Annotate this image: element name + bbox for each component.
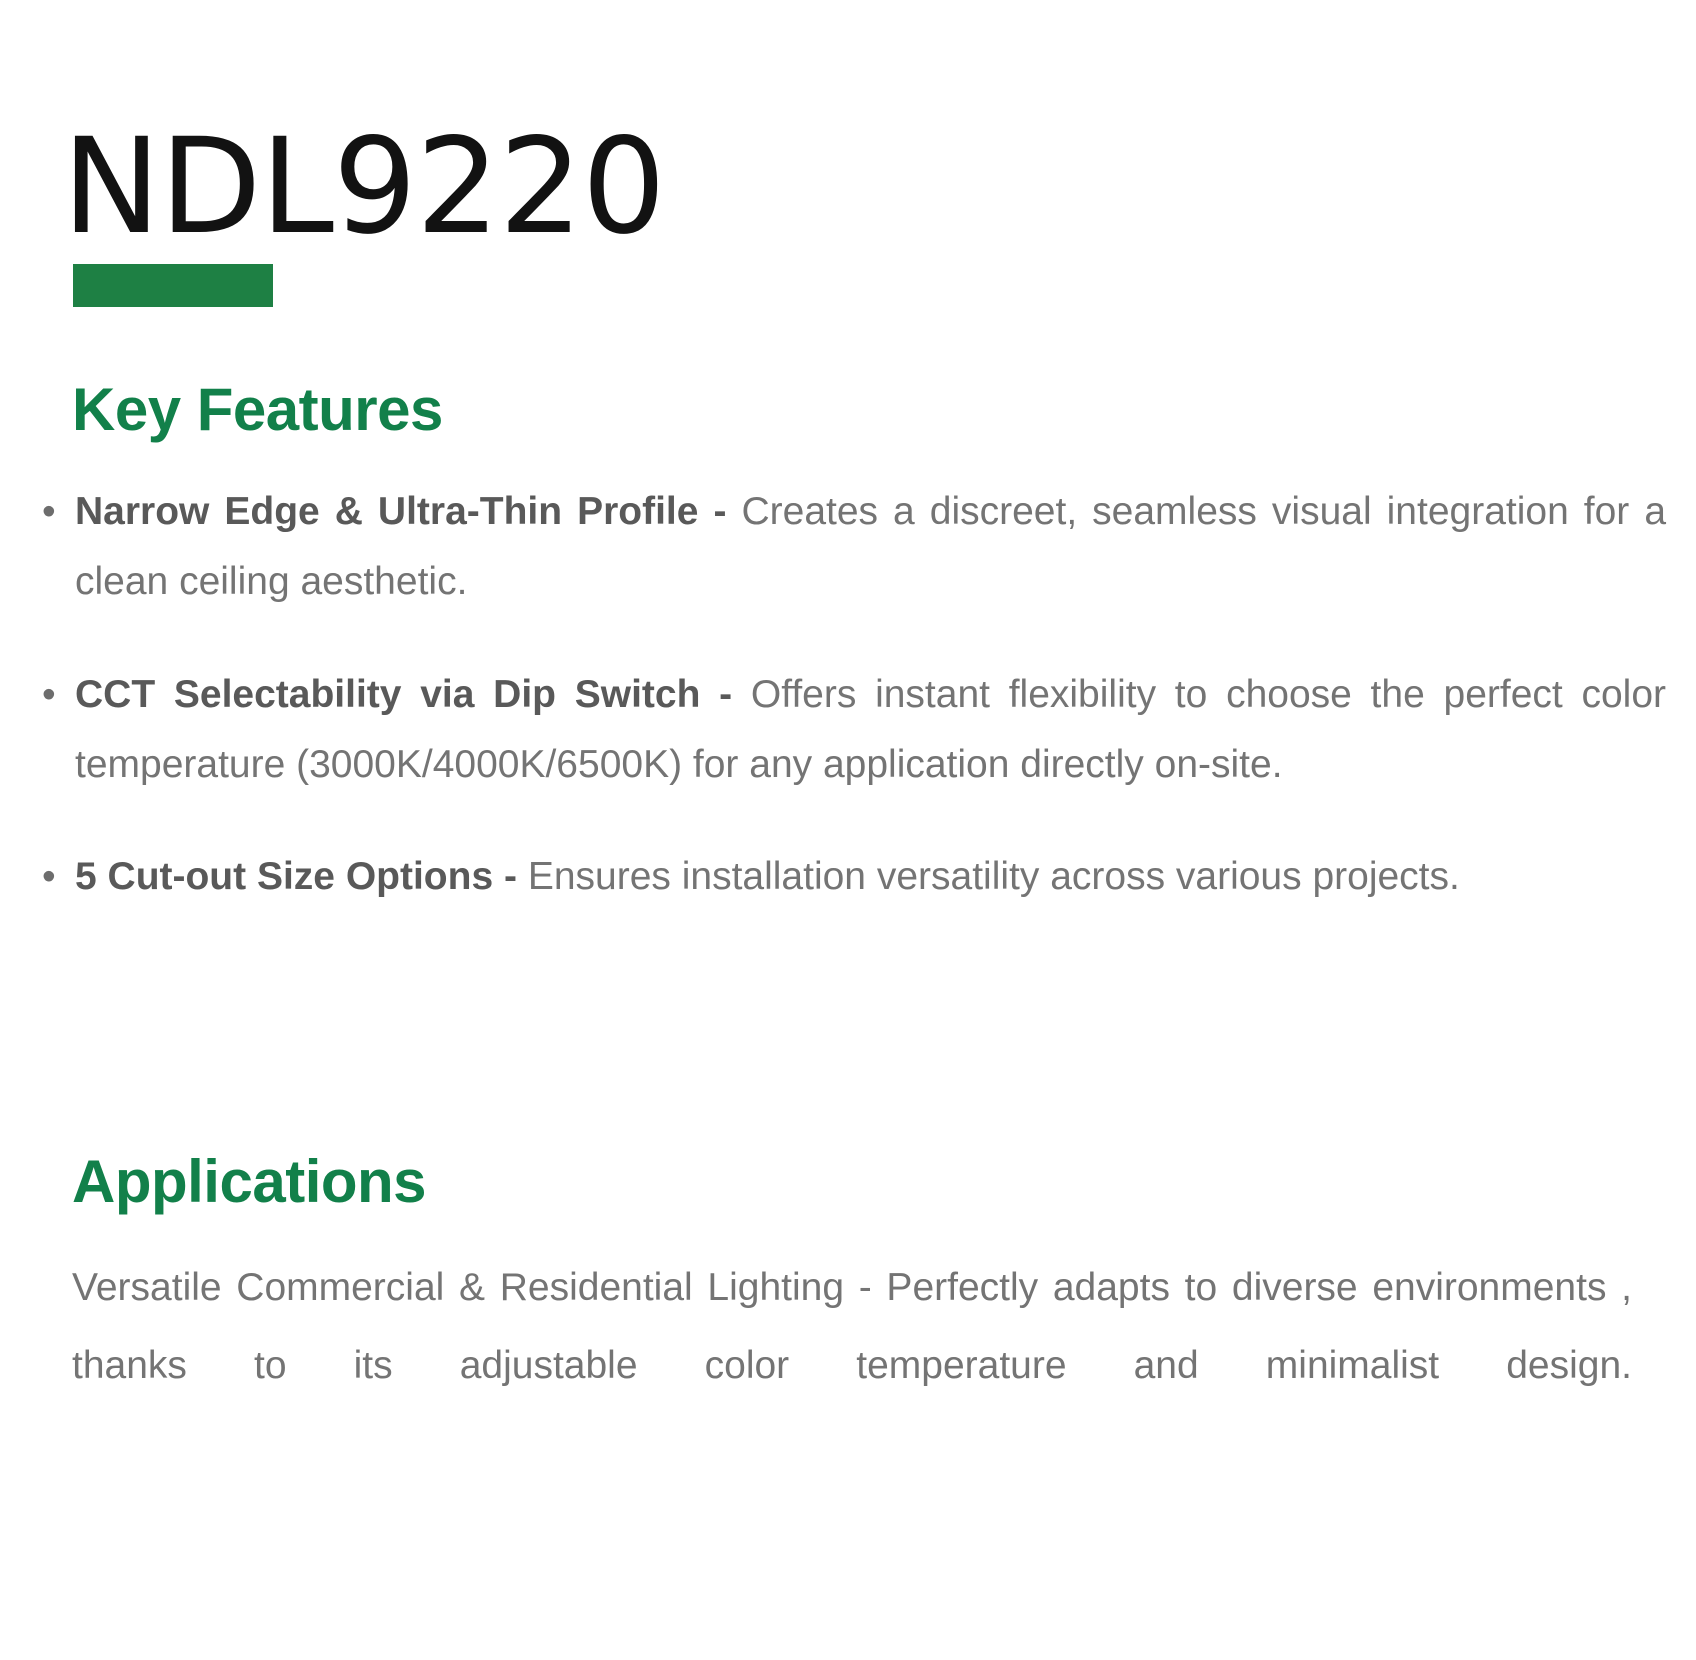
key-features-heading: Key Features [72, 376, 1666, 443]
bullet-icon: • [42, 477, 56, 547]
applications-heading: Applications [72, 1148, 1666, 1215]
feature-lead-text: 5 Cut-out Size Options - [75, 855, 528, 898]
page-title: NDL9220 [62, 116, 665, 259]
bullet-icon: • [42, 660, 56, 730]
accent-divider-bar [73, 264, 273, 307]
product-spec-page: NDL9220 Key Features • Narrow Edge & Ult… [0, 0, 1696, 1660]
bullet-icon: • [42, 842, 56, 912]
key-features-list: • Narrow Edge & Ultra-Thin Profile - Cre… [36, 477, 1666, 912]
feature-body-text: Ensures installation versatility across … [528, 855, 1460, 898]
applications-body-text: Versatile Commercial & Residential Light… [72, 1249, 1632, 1483]
list-item: • CCT Selectability via Dip Switch - Off… [36, 660, 1666, 800]
list-item: • Narrow Edge & Ultra-Thin Profile - Cre… [36, 477, 1666, 617]
key-features-section: Key Features • Narrow Edge & Ultra-Thin … [36, 376, 1666, 912]
feature-lead-text: CCT Selectability via Dip Switch - [75, 673, 751, 716]
applications-section: Applications Versatile Commercial & Resi… [36, 1148, 1666, 1483]
list-item: • 5 Cut-out Size Options - Ensures insta… [36, 842, 1666, 912]
feature-lead-text: Narrow Edge & Ultra-Thin Profile - [75, 490, 741, 533]
